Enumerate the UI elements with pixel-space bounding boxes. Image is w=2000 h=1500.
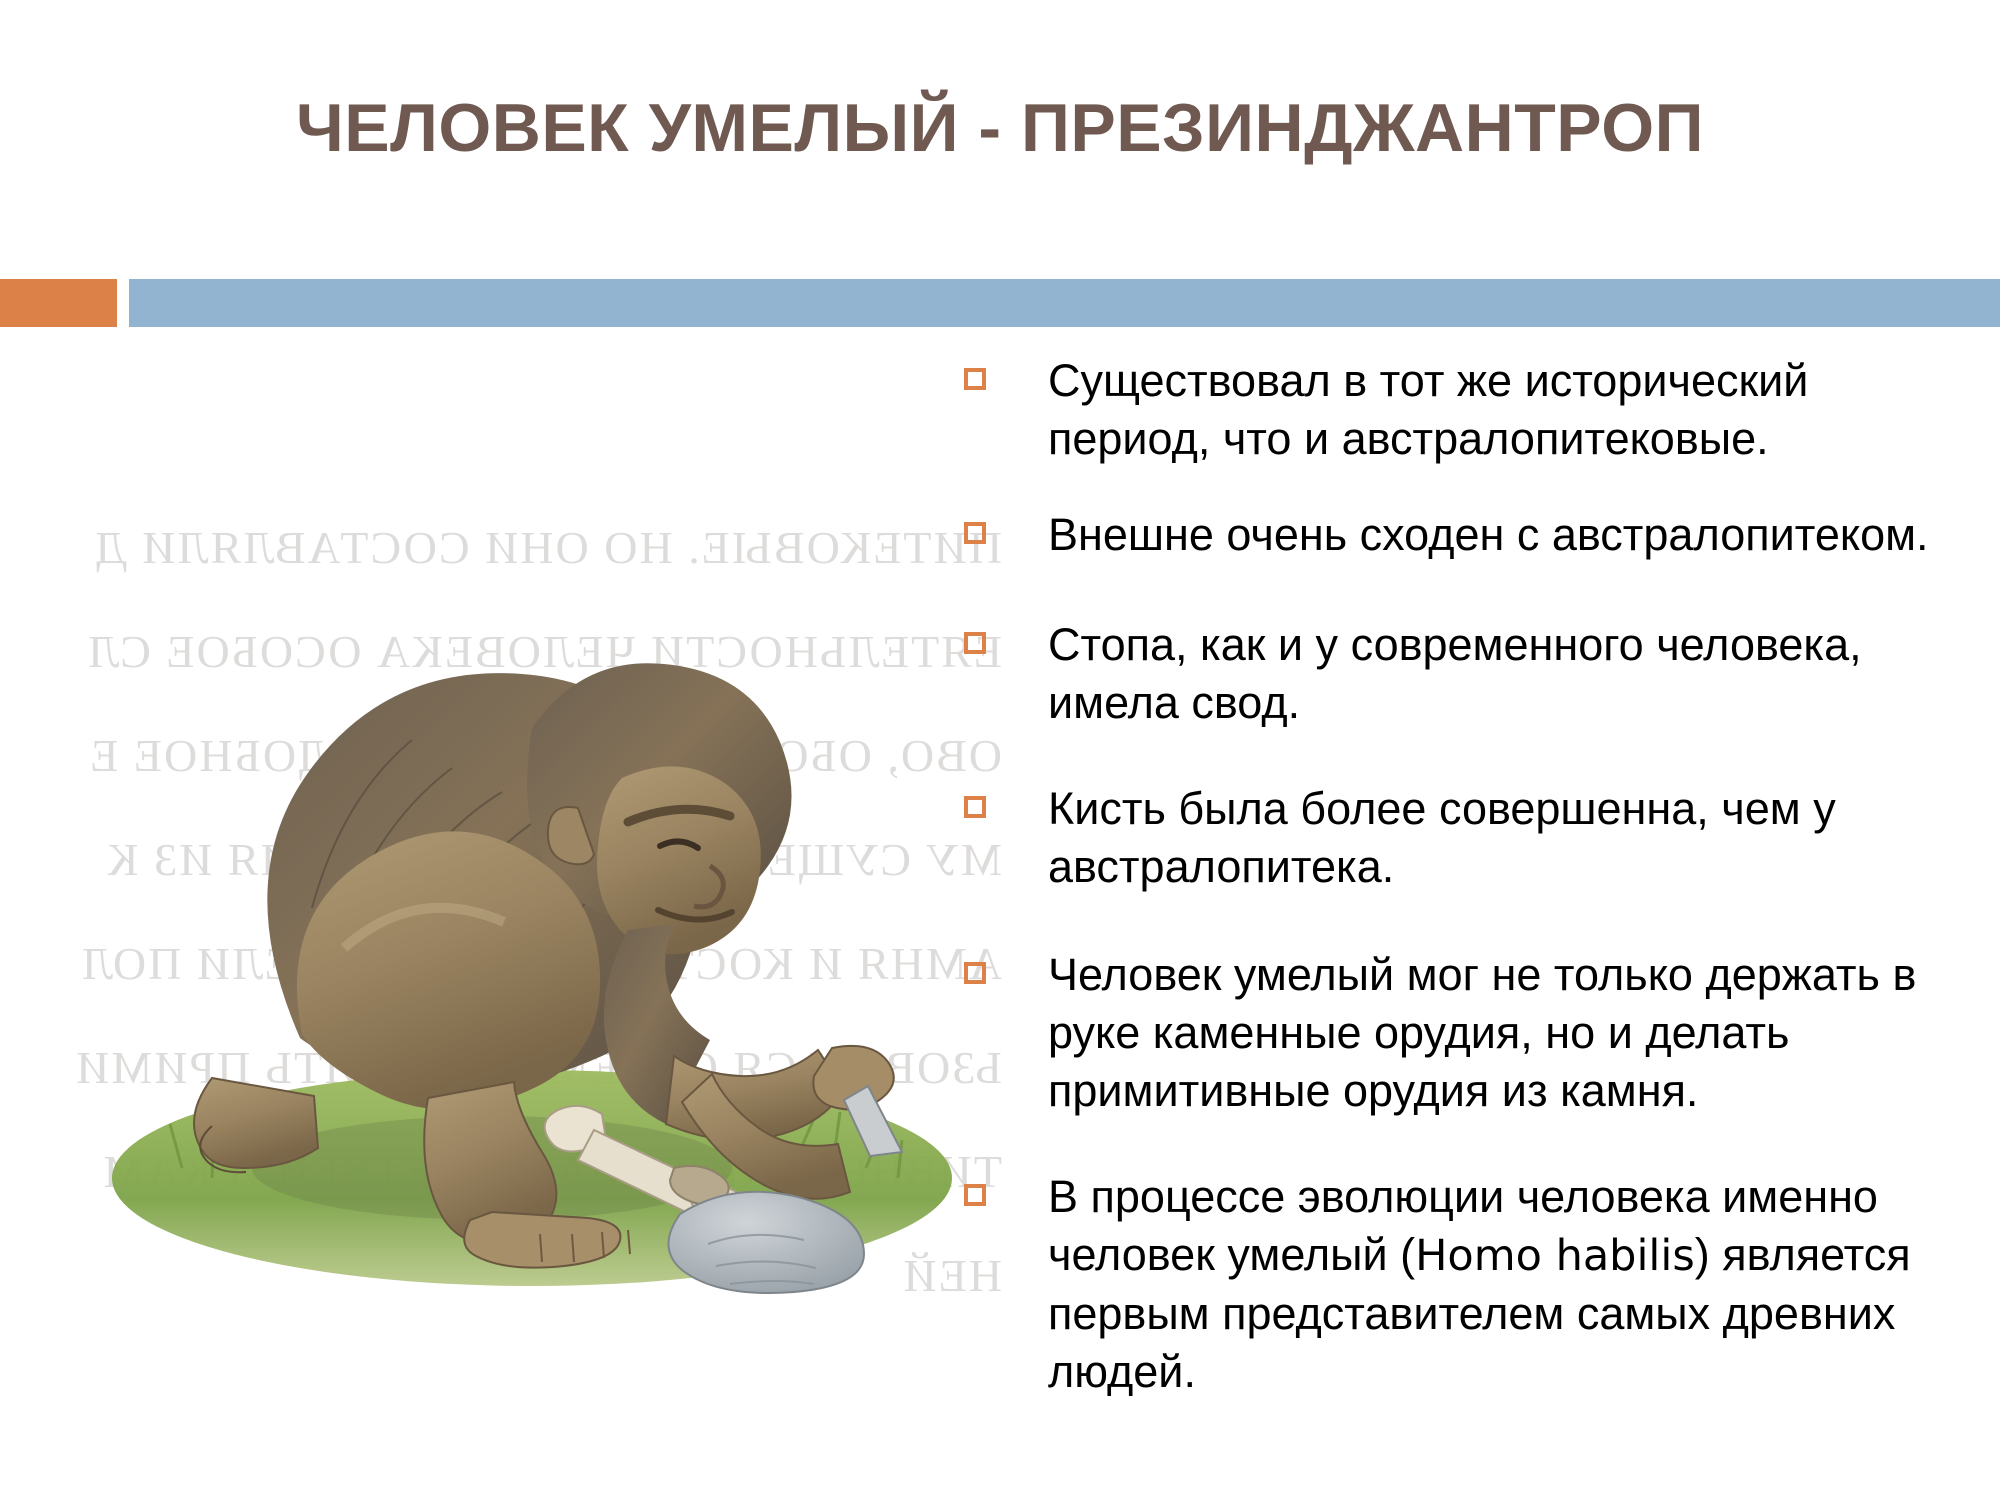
slide: ЧЕЛОВЕК УМЕЛЫЙ - ПРЕЗИНДЖАНТРОП ПИТЕКОВЫ…: [0, 0, 2000, 1500]
list-item: Существовал в тот же исторический период…: [964, 352, 1974, 468]
accent-bar: [0, 279, 117, 327]
bullet-item-4-text: Кисть была более совершенна, чем у австр…: [1048, 780, 1974, 896]
square-bullet-icon: [964, 632, 986, 654]
bullet-item-3-text: Стопа, как и у современного человека, им…: [1048, 616, 1974, 732]
illustration: ПИТЕКОВЫЕ. НО ОНИ СОСТАВЛЯЛИ ДЕЯТЕЛЬНОСТ…: [62, 478, 1012, 1302]
square-bullet-icon: [964, 796, 986, 818]
divider-bar: [129, 279, 2000, 327]
bullet-item-6-text: В процессе эволюции человека именно чело…: [1048, 1168, 1974, 1401]
square-bullet-icon: [964, 368, 986, 390]
list-item: Кисть была более совершенна, чем у австр…: [964, 780, 1974, 896]
bullet-item-1-text: Существовал в тот же исторический период…: [1048, 352, 1974, 468]
square-bullet-icon: [964, 1184, 986, 1206]
species-name-latin: Homo habilis: [1415, 1231, 1695, 1281]
square-bullet-icon: [964, 522, 986, 544]
bullet-item-5-text: Человек умелый мог не только держать в р…: [1048, 946, 1974, 1120]
square-bullet-icon: [964, 962, 986, 984]
list-item: В процессе эволюции человека именно чело…: [964, 1168, 1974, 1401]
list-item: Внешне очень сходен с австралопитеком.: [964, 506, 1974, 564]
bullet-item-2-text: Внешне очень сходен с австралопитеком.: [1048, 506, 1974, 564]
bullet-list: Существовал в тот же исторический период…: [964, 352, 1974, 1439]
homo-habilis-illustration: [62, 478, 1012, 1302]
list-item: Человек умелый мог не только держать в р…: [964, 946, 1974, 1120]
list-item: Стопа, как и у современного человека, им…: [964, 616, 1974, 732]
page-title: ЧЕЛОВЕК УМЕЛЫЙ - ПРЕЗИНДЖАНТРОП: [130, 88, 1870, 168]
